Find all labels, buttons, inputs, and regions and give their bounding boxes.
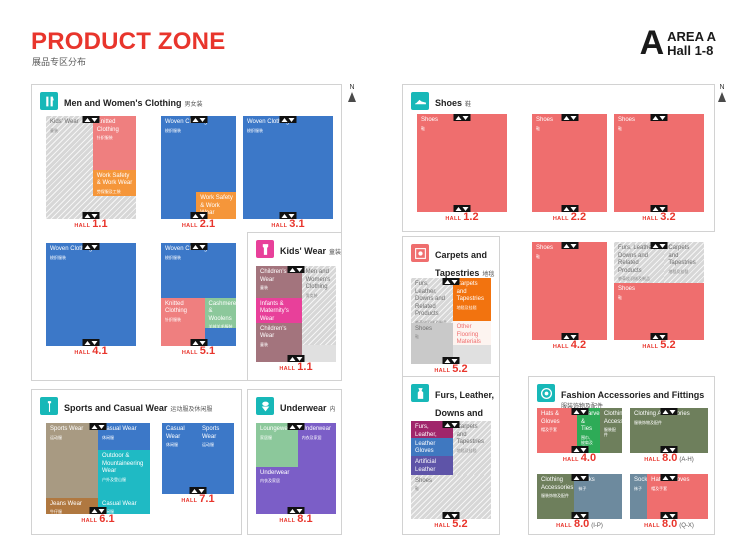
- escalator-icon: [571, 446, 588, 453]
- hall-block[interactable]: Furs, Leather, Downs and Related Product…: [411, 278, 491, 378]
- hall-number: 1.1: [92, 218, 107, 230]
- furs-icon: [411, 384, 429, 402]
- hall-block[interactable]: Woven Clothing 梭织服装Knitted Clothing 针织服装…: [161, 243, 236, 360]
- zone-area[interactable]: Infants & Maternity's Wear 婴幼儿及孕妇装: [256, 298, 302, 323]
- hall-label-text: HALL: [279, 518, 295, 524]
- zone-area[interactable]: Shoes 鞋: [417, 114, 507, 212]
- zone-name-zh: 鞋: [536, 254, 604, 259]
- zone-area[interactable]: Shoes 鞋: [532, 114, 607, 212]
- hall-number: 5.2: [660, 339, 675, 351]
- zone-name-zh: 梭织服装: [165, 128, 233, 133]
- zone-name-en: Clothing Accessories: [541, 477, 571, 492]
- hall-label-text: HALL: [644, 523, 660, 529]
- zone-area[interactable]: Cashmere & Woolens 羊绒羊毛服装: [205, 298, 237, 329]
- zone-name-zh: 男女装: [306, 293, 333, 298]
- escalator-icon: [661, 512, 678, 519]
- hall-suffix: (I-P): [591, 523, 603, 529]
- panel-underwear: Underwear内衣 Loungewear 家居服Underwear 内衣及家…: [247, 389, 342, 535]
- hall-block[interactable]: Furs, Leather, Downs and Related Product…: [411, 421, 491, 533]
- zone-name-en: Hats & Gloves: [541, 411, 574, 426]
- zone-name-en: Cashmere & Woolens: [209, 301, 234, 324]
- zone-name-zh: 鞋: [421, 126, 504, 131]
- escalator-icon: [288, 423, 305, 430]
- panel-kids-wear: Kids' Wear童装 Children's Wear 童装Infants &…: [247, 232, 342, 381]
- hall-number: 5.2: [452, 518, 467, 530]
- hall-label-text: HALL: [279, 366, 295, 372]
- panel-header: Kids' Wear童装: [248, 233, 341, 259]
- hall-number: 1.1: [297, 361, 312, 373]
- zone-name-zh: 休闲服: [102, 435, 147, 440]
- panel-header: Sports and Casual Wear运动服及休闲服: [32, 390, 241, 416]
- panel-sports-casual-wear: Sports and Casual Wear运动服及休闲服 Sports Wea…: [31, 389, 242, 535]
- panel-carpets-tapestries: Carpets and Tapestries地毯及挂毯 Furs, Leathe…: [402, 236, 500, 381]
- panel-title-zh: 童装: [329, 250, 341, 256]
- zone-name-en: Outdoor & Mountaineering Wear: [102, 453, 147, 476]
- hall-block[interactable]: Casual Wear 休闲服Sports Wear 运动服HALL7.1: [162, 423, 234, 508]
- hall-map: Woven Clothing 梭织服装: [243, 116, 333, 219]
- zone-name-en: Shoes: [618, 286, 701, 294]
- hall-number: 4.1: [92, 345, 107, 357]
- hall-label-text: HALL: [556, 523, 572, 529]
- zone-name-zh: 地毯及挂毯: [457, 305, 488, 310]
- zone-name-en: Carpets and Tapestries: [457, 424, 488, 447]
- zone-name-zh: 服装配件: [604, 427, 619, 437]
- zone-name-en: Children's Wear: [260, 326, 299, 341]
- zone-name-zh: 鞋: [536, 126, 604, 131]
- zone-name-zh: 袜子: [634, 486, 644, 491]
- panel-header: Men and Women's Clothing男女装: [32, 85, 341, 111]
- escalator-icon: [571, 474, 588, 481]
- zone-name-en: Men and Women's Clothing: [306, 269, 333, 292]
- hall-block[interactable]: Hats & Gloves 帽及手套Scarves & Ties 围巾、披肩及领…: [537, 408, 622, 467]
- zone-name-en: Other Flooring Materials: [457, 324, 488, 345]
- zone-name-zh: 户外及登山服: [102, 477, 147, 482]
- accessories-icon: [537, 384, 555, 402]
- area-badge: A AREA A Hall 1-8: [640, 28, 716, 59]
- compass-north-left: N: [346, 84, 358, 102]
- zone-name-en: Knitted Clothing: [97, 119, 133, 134]
- zone-name-en: Furs, Leather, Downs and Related Product…: [415, 281, 450, 319]
- zone-name-zh: 地毯及挂毯: [457, 448, 488, 453]
- underwear-icon: [256, 397, 274, 415]
- zone-name-en: Knitted Clothing: [165, 301, 202, 316]
- zone-area[interactable]: Other Flooring Materials 其他地面材料: [453, 321, 491, 345]
- escalator-icon: [83, 339, 100, 346]
- zone-name-en: Carpets and Tapestries: [457, 281, 488, 304]
- hall-block[interactable]: Shoes 鞋HALL3.2: [614, 114, 704, 226]
- zone-name-zh: 梭织服装: [165, 255, 233, 260]
- hall-label-text: HALL: [642, 216, 658, 222]
- zone-name-zh: 劳保服及工装: [97, 189, 133, 194]
- escalator-icon: [190, 243, 207, 250]
- hall-number: 2.2: [571, 211, 586, 223]
- zone-name-zh: 家居服: [260, 435, 295, 440]
- hall-block[interactable]: Woven Clothing 梭织服装HALL3.1: [243, 116, 333, 233]
- hall-number: 8.1: [297, 513, 312, 525]
- escalator-icon: [443, 421, 460, 428]
- hall-map: Furs, Leather, Downs and Related Product…: [411, 421, 491, 519]
- escalator-icon: [651, 205, 668, 212]
- hall-map: Woven Clothing 梭织服装Knitted Clothing 针织服装…: [161, 243, 236, 346]
- zone-name-en: Hats & Gloves: [651, 477, 705, 485]
- hall-label-text: HALL: [642, 344, 658, 350]
- hall-label-text: HALL: [553, 344, 569, 350]
- hall-label-text: HALL: [181, 498, 197, 504]
- zone-name-en: Leather Gloves: [415, 441, 450, 456]
- zone-area[interactable]: Woven Clothing 梭织服装: [243, 116, 333, 219]
- area-letter: A: [640, 28, 665, 59]
- hall-map: Shoes 鞋: [532, 242, 607, 340]
- hall-label-text: HALL: [434, 368, 450, 374]
- hall-label-text: HALL: [74, 223, 90, 229]
- hall-map: Woven Clothing 梭织服装: [46, 243, 136, 346]
- zone-area[interactable]: Socks 袜子: [630, 474, 647, 519]
- hall-block[interactable]: Clothing Accessories 服装饰物及配件Socks 袜子HALL…: [537, 474, 622, 533]
- hall-map: Furs, Leather, Downs and Related Product…: [614, 242, 704, 340]
- hall-number: 5.1: [200, 345, 215, 357]
- zone-name-zh: 鞋: [415, 486, 488, 491]
- zone-name-zh: 鞋: [415, 334, 450, 339]
- escalator-icon: [190, 212, 207, 219]
- zone-area[interactable]: Knitted Clothing 针织服装: [93, 116, 136, 170]
- hall-block[interactable]: Clothing Accessories 服装饰物及配件HALL8.0(A-H): [630, 408, 708, 467]
- escalator-icon: [190, 339, 207, 346]
- hall-block[interactable]: Woven Clothing 梭织服装Work Safety & Work We…: [161, 116, 236, 233]
- panel-title-group: Sports and Casual Wear运动服及休闲服: [64, 397, 212, 416]
- zone-name-en: Work Safety & Work Wear: [97, 173, 133, 188]
- panel-header: Shoes鞋: [403, 85, 714, 111]
- zone-name-en: Casual Wear: [102, 501, 147, 509]
- panel-title-en: Shoes鞋: [435, 98, 471, 108]
- hall-number: 8.0: [662, 452, 677, 464]
- hall-map: Clothing Accessories 服装饰物及配件: [630, 408, 708, 453]
- escalator-icon: [90, 423, 107, 430]
- panel-title-group: Shoes鞋: [435, 92, 471, 111]
- panel-title-zh: 鞋: [465, 102, 471, 108]
- escalator-icon: [661, 474, 678, 481]
- zone-name-zh: 梭织服装: [247, 128, 330, 133]
- hall-map: Kids' Wear 童装Knitted Clothing 针织服装Work S…: [46, 116, 136, 219]
- hall-block[interactable]: Woven Clothing 梭织服装HALL4.1: [46, 243, 136, 360]
- escalator-icon: [561, 333, 578, 340]
- escalator-icon: [651, 333, 668, 340]
- zone-name-zh: 运动服: [50, 435, 95, 440]
- hall-number: 3.1: [289, 218, 304, 230]
- escalator-icon: [651, 242, 668, 249]
- zone-name-zh: 服装饰物及配件: [541, 493, 571, 498]
- kids-icon: [256, 240, 274, 258]
- zone-name-zh: 针织服装: [97, 135, 133, 140]
- escalator-icon: [190, 116, 207, 123]
- panel-fashion-accessories: Fashion Accessories and Fittings 服装饰物及配件…: [528, 376, 715, 535]
- escalator-icon: [190, 487, 207, 494]
- hall-block[interactable]: Sports Wear 运动服Casual Wear 休闲服Outdoor & …: [46, 423, 150, 528]
- zone-name-zh: 内衣及家居: [260, 478, 333, 483]
- zone-area[interactable]: Carpets and Tapestries 地毯及挂毯: [453, 421, 491, 476]
- hall-block[interactable]: Kids' Wear 童装Knitted Clothing 针织服装Work S…: [46, 116, 136, 233]
- zone-name-zh: 鞋: [618, 126, 701, 131]
- hall-label-text: HALL: [445, 216, 461, 222]
- hall-block[interactable]: Shoes 鞋HALL4.2: [532, 242, 607, 354]
- zone-area[interactable]: Artificial Leather 人造皮革: [411, 456, 453, 475]
- zone-name-zh: 地毯及挂毯: [668, 269, 701, 274]
- zone-name-zh: 内衣及家居: [302, 435, 333, 440]
- zone-name-en: Furs, Leather, Downs and Related Product…: [618, 245, 661, 275]
- hall-block[interactable]: Loungewear 家居服Underwear 内衣及家居Swimsuits 泳…: [256, 423, 336, 528]
- hall-map: Casual Wear 休闲服Sports Wear 运动服: [162, 423, 234, 494]
- hall-map: Woven Clothing 梭织服装Work Safety & Work We…: [161, 116, 236, 219]
- compass-north-right: N: [716, 84, 728, 102]
- zone-area[interactable]: Shoes 鞋: [532, 242, 607, 340]
- escalator-icon: [561, 114, 578, 121]
- zone-area[interactable]: Outdoor & Mountaineering Wear 户外及登山服: [98, 450, 150, 497]
- compass-arrow-icon: [718, 92, 726, 102]
- zone-area[interactable]: Work Safety & Work Wear 劳保服及工装: [93, 170, 136, 197]
- zone-name-en: Artificial Leather: [415, 459, 450, 474]
- escalator-icon: [288, 266, 305, 273]
- escalator-icon: [288, 355, 305, 362]
- panel-title-en: Kids' Wear童装: [280, 246, 341, 256]
- hall-block[interactable]: Shoes 鞋HALL1.2: [417, 114, 507, 226]
- zone-name-en: Underwear: [260, 470, 333, 478]
- escalator-icon: [280, 116, 297, 123]
- zone-name-en: Casual Wear: [102, 426, 147, 434]
- zone-name-en: Underwear: [302, 426, 333, 434]
- hall-number: 7.1: [199, 493, 214, 505]
- zone-name-zh: 帽及手套: [651, 486, 705, 491]
- hall-label-text: HALL: [182, 223, 198, 229]
- escalator-icon: [454, 205, 471, 212]
- hall-number: 5.2: [452, 363, 467, 375]
- hall-map: Children's Wear 童装Infants & Maternity's …: [256, 266, 336, 362]
- zone-name-en: Sports Wear: [50, 426, 95, 434]
- hall-label-text: HALL: [271, 223, 287, 229]
- hall-label-text: HALL: [434, 523, 450, 529]
- hall-map: Socks 袜子Hats & Gloves 帽及手套: [630, 474, 708, 519]
- shoe-icon: [411, 92, 429, 110]
- page-subtitle: 展品专区分布: [32, 55, 86, 68]
- panel-title-en: Men and Women's Clothing男女装: [64, 98, 203, 108]
- hall-map: Loungewear 家居服Underwear 内衣及家居Swimsuits 泳…: [256, 423, 336, 514]
- area-text: AREA A Hall 1-8: [667, 30, 716, 57]
- escalator-icon: [83, 212, 100, 219]
- zone-name-en: Carpets and Tapestries: [668, 245, 701, 268]
- clothing-icon: [40, 92, 58, 110]
- zone-area[interactable]: Shoes 鞋: [614, 283, 704, 340]
- hall-number: 4.0: [581, 452, 596, 464]
- zone-name-zh: 梭织服装: [50, 255, 133, 260]
- zone-name-zh: 运动服: [202, 442, 231, 447]
- compass-arrow-icon: [348, 92, 356, 102]
- zone-name-en: Clothing Accessories: [604, 411, 619, 426]
- sports-icon: [40, 397, 58, 415]
- hall-map: Shoes 鞋: [532, 114, 607, 212]
- hall-number: 2.1: [200, 218, 215, 230]
- escalator-icon: [661, 446, 678, 453]
- hall-block[interactable]: Socks 袜子Hats & Gloves 帽及手套HALL8.0(Q-X): [630, 474, 708, 533]
- hall-block[interactable]: Furs, Leather, Downs and Related Product…: [614, 242, 704, 354]
- escalator-icon: [651, 114, 668, 121]
- escalator-icon: [83, 116, 100, 123]
- zone-name-zh: 服装饰物及配件: [634, 420, 705, 425]
- zone-name-zh: 针织服装: [165, 317, 202, 322]
- zone-name-en: Infants & Maternity's Wear: [260, 301, 299, 323]
- panel-title-zh: 男女装: [184, 102, 202, 108]
- area-halls: Hall 1-8: [667, 44, 716, 58]
- hall-label-text: HALL: [644, 457, 660, 463]
- escalator-icon: [83, 243, 100, 250]
- hall-label-text: HALL: [553, 216, 569, 222]
- zone-name-zh: 羊绒羊毛服装: [209, 324, 234, 328]
- escalator-icon: [90, 507, 107, 514]
- zone-area[interactable]: Woven Clothing 梭织服装: [46, 243, 136, 346]
- escalator-icon: [280, 212, 297, 219]
- zone-area[interactable]: Clothing Accessories 服装配件: [600, 408, 622, 453]
- hall-label-text: HALL: [182, 350, 198, 356]
- hall-label-text: HALL: [563, 457, 579, 463]
- zone-area[interactable]: Shoes 鞋: [614, 114, 704, 212]
- carpet-icon: [411, 244, 429, 262]
- zone-name-en: Shoes: [415, 478, 488, 486]
- hall-map: Shoes 鞋: [614, 114, 704, 212]
- zone-name-en: Jeans Wear: [50, 501, 95, 509]
- panel-title-en: Fashion Accessories and Fittings: [561, 390, 704, 400]
- hall-number: 4.2: [571, 339, 586, 351]
- zone-name-en: Socks: [634, 477, 644, 485]
- panel-title-en: Sports and Casual Wear运动服及休闲服: [64, 403, 212, 413]
- zone-name-zh: 休闲服: [166, 442, 195, 447]
- zone-area[interactable]: Men and Women's Clothing 男女装: [302, 266, 336, 345]
- escalator-icon: [561, 242, 578, 249]
- zone-area[interactable]: Sports Wear 运动服: [198, 423, 234, 494]
- hall-suffix: (A-H): [679, 457, 693, 463]
- compass-label: N: [716, 84, 728, 91]
- escalator-icon: [443, 278, 460, 285]
- zone-name-en: Casual Wear: [166, 426, 195, 441]
- hall-map: Shoes 鞋: [417, 114, 507, 212]
- panel-title-group: Men and Women's Clothing男女装: [64, 92, 203, 111]
- zone-name-zh: 裘革皮羽绒及制品: [618, 276, 661, 281]
- escalator-icon: [288, 507, 305, 514]
- zone-name-zh: 童装: [260, 342, 299, 347]
- zone-area[interactable]: Clothing Accessories 服装饰物及配件: [537, 474, 574, 519]
- panel-title-zh: 运动服及休闲服: [170, 407, 212, 413]
- escalator-icon: [454, 114, 471, 121]
- zone-name-en: Shoes: [415, 326, 450, 334]
- hall-number: 8.0: [574, 518, 589, 530]
- hall-number: 6.1: [99, 513, 114, 525]
- hall-map: Sports Wear 运动服Casual Wear 休闲服Outdoor & …: [46, 423, 150, 514]
- escalator-icon: [661, 408, 678, 415]
- hall-block[interactable]: Shoes 鞋HALL2.2: [532, 114, 607, 226]
- hall-map: Furs, Leather, Downs and Related Product…: [411, 278, 491, 364]
- escalator-icon: [571, 408, 588, 415]
- zone-area[interactable]: Leather Gloves 皮革手套: [411, 438, 453, 457]
- area-name: AREA A: [667, 30, 716, 44]
- hall-block[interactable]: Children's Wear 童装Infants & Maternity's …: [256, 266, 336, 376]
- hall-number: 1.2: [463, 211, 478, 223]
- hall-label-text: HALL: [74, 350, 90, 356]
- hall-map: Clothing Accessories 服装饰物及配件Socks 袜子: [537, 474, 622, 519]
- panel-furs-leather-downs: Furs, Leather, Downs and Related Product…: [402, 376, 500, 535]
- hall-number: 8.0: [662, 518, 677, 530]
- page-title: PRODUCT ZONE: [31, 28, 225, 56]
- escalator-icon: [561, 205, 578, 212]
- panel-title-group: Kids' Wear童装: [280, 240, 341, 259]
- zone-name-zh: 帽及手套: [541, 427, 574, 432]
- zone-area[interactable]: Casual Wear 休闲服: [162, 423, 198, 494]
- zone-name-en: Sports Wear: [202, 426, 231, 441]
- panel-shoes: Shoes鞋 Shoes 鞋HALL1.2Shoes 鞋HALL2.2Shoes…: [402, 84, 715, 232]
- escalator-icon: [443, 357, 460, 364]
- hall-suffix: (Q-X): [679, 523, 694, 529]
- panel-header: Fashion Accessories and Fittings 服装饰物及配件: [529, 377, 714, 412]
- hall-map: Hats & Gloves 帽及手套Scarves & Ties 围巾、披肩及领…: [537, 408, 622, 453]
- escalator-icon: [571, 512, 588, 519]
- zone-name-zh: 鞋: [618, 295, 701, 300]
- hall-label-text: HALL: [81, 518, 97, 524]
- zone-area[interactable]: Hats & Gloves 帽及手套: [647, 474, 708, 519]
- zone-name-zh: 袜子: [578, 486, 619, 491]
- compass-label: N: [346, 84, 358, 91]
- escalator-icon: [443, 512, 460, 519]
- hall-number: 3.2: [660, 211, 675, 223]
- zone-name-zh: 童装: [260, 285, 299, 290]
